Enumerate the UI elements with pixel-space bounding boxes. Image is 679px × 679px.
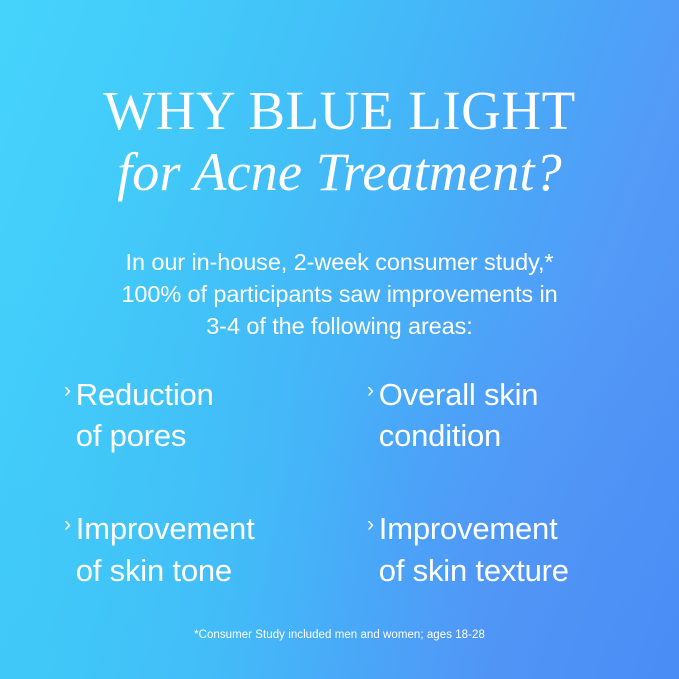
benefit-line-2: of pores: [76, 415, 214, 456]
chevron-right-icon: ›: [367, 377, 374, 405]
subtitle-line-1: In our in-house, 2-week consumer study,*: [0, 246, 679, 278]
subtitle-line-3: 3-4 of the following areas:: [0, 310, 679, 342]
benefit-line-2: condition: [379, 415, 539, 456]
footnote-disclaimer: *Consumer Study included men and women; …: [0, 629, 679, 641]
benefit-item-reduction-of-pores: › Reduction of pores: [64, 374, 367, 456]
benefit-line-2: of skin texture: [379, 550, 569, 591]
benefit-item-improvement-of-skin-texture: › Improvement of skin texture: [367, 508, 679, 590]
chevron-right-icon: ›: [64, 511, 71, 539]
benefit-line-1: Reduction: [76, 374, 214, 415]
subtitle-block: In our in-house, 2-week consumer study,*…: [0, 246, 679, 343]
page-title: WHY BLUE LIGHT for Acne Treatment?: [0, 83, 679, 199]
benefit-line-1: Improvement: [76, 508, 255, 549]
benefit-item-overall-skin-condition: › Overall skin condition: [367, 374, 679, 456]
benefit-label: Reduction of pores: [76, 374, 214, 456]
headline-line-2: for Acne Treatment?: [0, 145, 679, 199]
benefit-label: Improvement of skin tone: [76, 508, 255, 590]
promo-poster: WHY BLUE LIGHT for Acne Treatment? In ou…: [0, 0, 679, 679]
benefit-line-2: of skin tone: [76, 550, 255, 591]
benefit-item-improvement-of-skin-tone: › Improvement of skin tone: [64, 508, 367, 590]
benefit-label: Improvement of skin texture: [379, 508, 569, 590]
chevron-right-icon: ›: [367, 511, 374, 539]
benefit-label: Overall skin condition: [379, 374, 539, 456]
benefits-list: › Reduction of pores › Overall skin cond…: [0, 374, 679, 591]
benefit-line-1: Improvement: [379, 508, 569, 549]
benefit-line-1: Overall skin: [379, 374, 539, 415]
subtitle-line-2: 100% of participants saw improvements in: [0, 278, 679, 310]
headline-line-1: WHY BLUE LIGHT: [0, 83, 679, 138]
poster-content: WHY BLUE LIGHT for Acne Treatment? In ou…: [0, 0, 679, 679]
chevron-right-icon: ›: [64, 377, 71, 405]
